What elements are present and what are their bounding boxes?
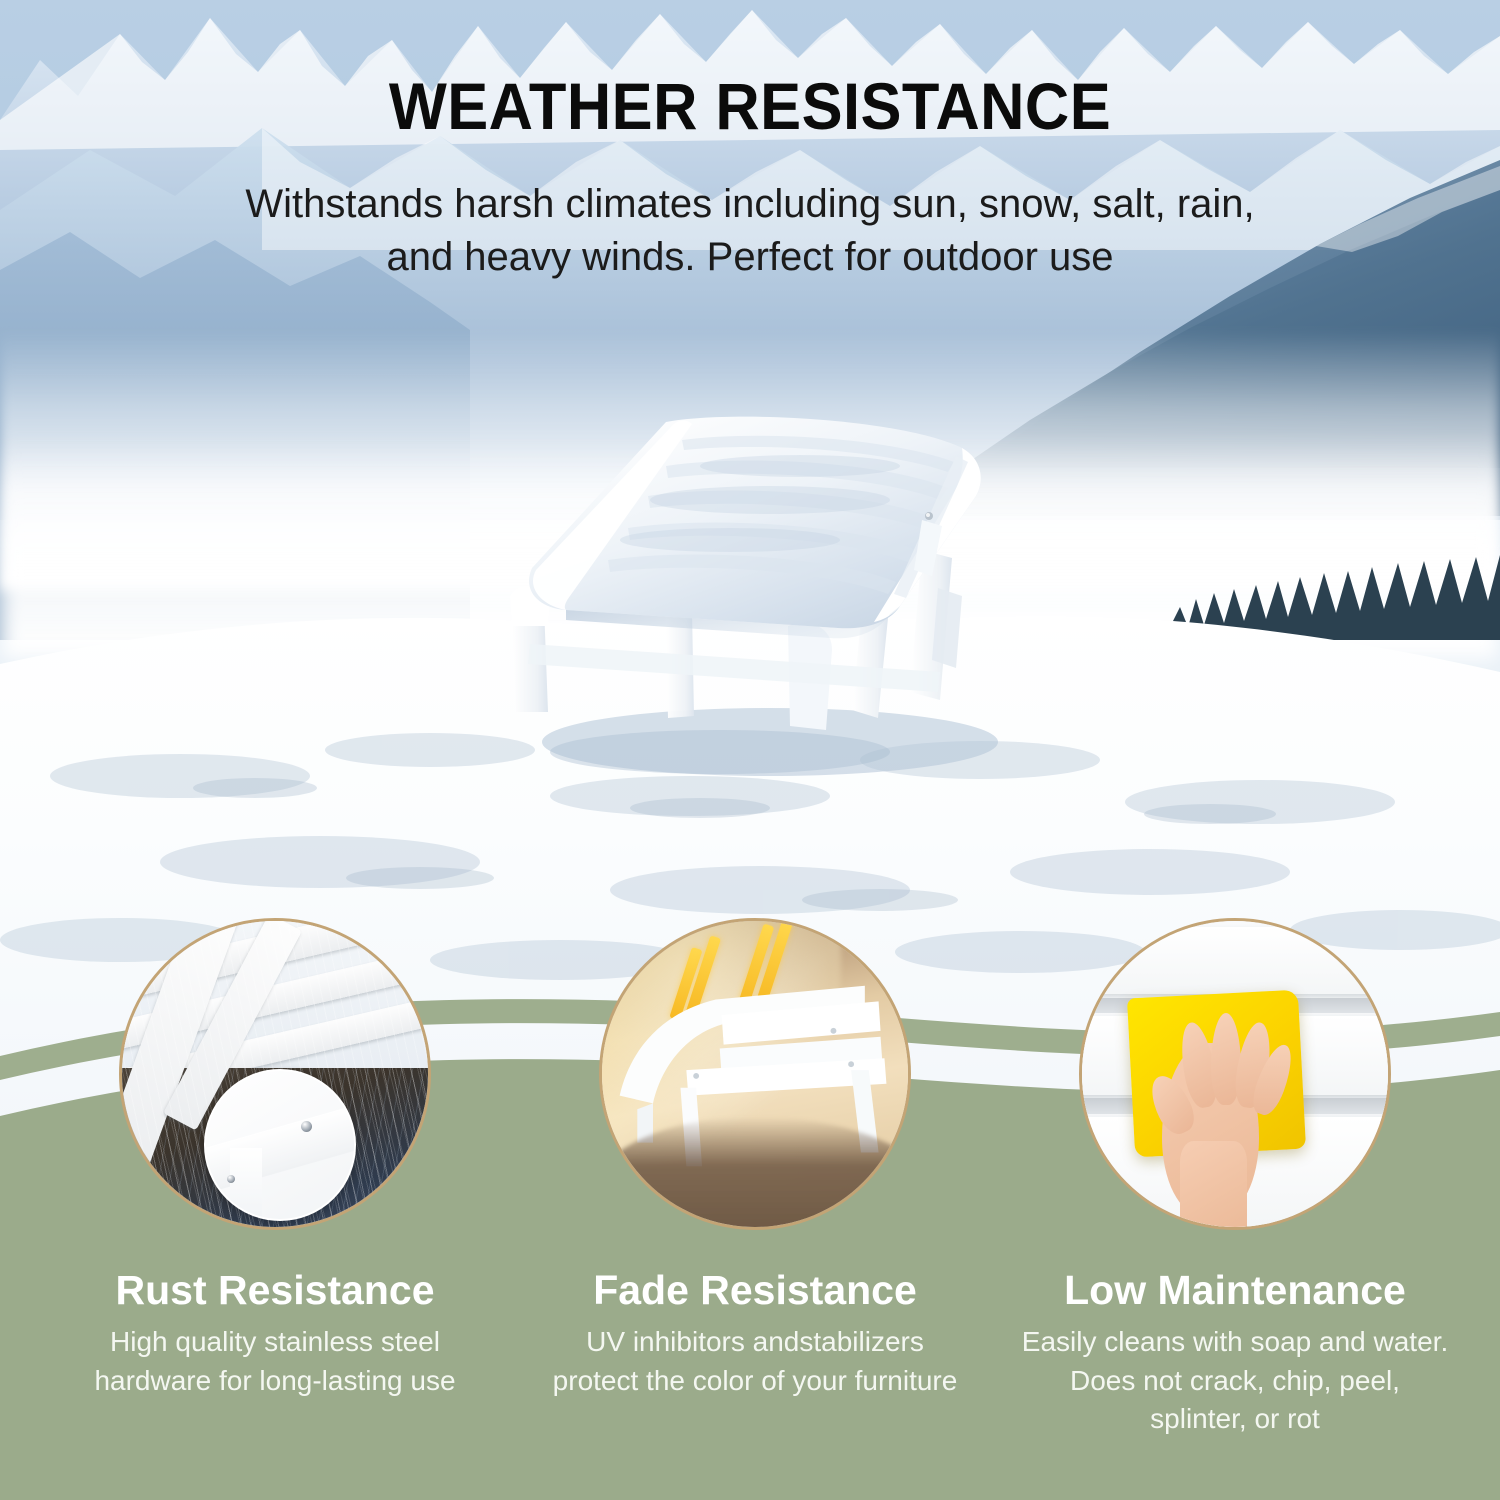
feature-image-fade-resistance [599, 918, 911, 1230]
feature-description: High quality stainless steel hardware fo… [60, 1323, 490, 1400]
feature-title: Rust Resistance [60, 1268, 490, 1313]
feature-block-rust-resistance: Rust Resistance High quality stainless s… [60, 1268, 490, 1400]
product-ottoman-snow-covered [470, 400, 1040, 800]
feature-block-low-maintenance: Low Maintenance Easily cleans with soap … [1020, 1268, 1450, 1439]
feature-title: Low Maintenance [1020, 1268, 1450, 1313]
screw-magnifier-inset [204, 1069, 356, 1221]
fade-resistance-photo [602, 921, 908, 1227]
page-title: WEATHER RESISTANCE [53, 72, 1448, 141]
feature-description: UV inhibitors andstabilizers protect the… [540, 1323, 970, 1400]
feature-image-low-maintenance [1079, 918, 1391, 1230]
rust-resistance-photo [122, 921, 428, 1227]
product-feature-infographic: WEATHER RESISTANCE Withstands harsh clim… [0, 0, 1500, 1500]
low-maintenance-photo [1082, 921, 1388, 1227]
feature-image-rust-resistance [119, 918, 431, 1230]
feature-description: Easily cleans with soap and water. Does … [1020, 1323, 1450, 1439]
feature-title: Fade Resistance [540, 1268, 970, 1313]
feature-block-fade-resistance: Fade Resistance UV inhibitors andstabili… [540, 1268, 970, 1400]
page-subtitle: Withstands harsh climates including sun,… [210, 178, 1290, 284]
